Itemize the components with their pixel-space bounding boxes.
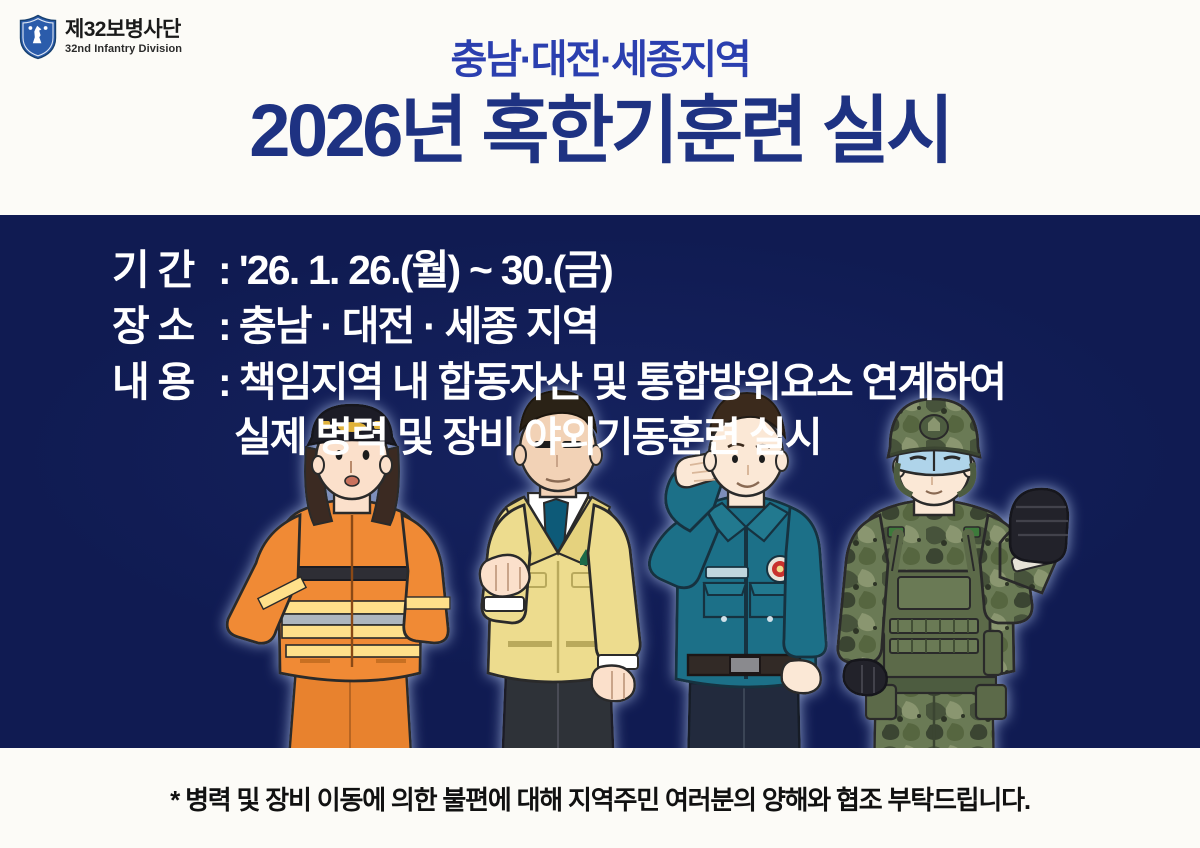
agency-emblem-icon: [580, 549, 604, 565]
info-colon-location: :: [216, 299, 239, 355]
info-label-content: 내 용: [112, 355, 216, 411]
division-name-ko: 제32보병사단: [65, 19, 182, 40]
poster-root: 제32보병사단 32nd Infantry Division 충남·대전·세종지…: [0, 0, 1200, 848]
info-colon-content: :: [216, 355, 239, 411]
info-label-location: 장 소: [112, 299, 216, 355]
info-list: 기 간 : '26. 1. 26.(월) ~ 30.(금) 장 소 : 충남 ·…: [112, 243, 1005, 466]
info-value-content-continued: 실제 병력 및 장비 야외기동훈련 실시: [112, 410, 821, 466]
footer-band: * 병력 및 장비 이동에 의한 불편에 대해 지역주민 여러분의 양해와 협조…: [0, 748, 1200, 848]
poster-subtitle: 충남·대전·세종지역: [0, 40, 1200, 80]
title-block: 충남·대전·세종지역 2026년 혹한기훈련 실시: [0, 40, 1200, 170]
announcement-panel: 기 간 : '26. 1. 26.(월) ~ 30.(금) 장 소 : 충남 ·…: [0, 215, 1200, 748]
info-row-period: 기 간 : '26. 1. 26.(월) ~ 30.(금): [112, 243, 1005, 299]
info-row-content-continued: 실제 병력 및 장비 야외기동훈련 실시: [112, 410, 1005, 466]
info-label-period: 기 간: [112, 243, 216, 299]
poster-title: 2026년 혹한기훈련 실시: [0, 92, 1200, 170]
info-value-content: 책임지역 내 합동자산 및 통합방위요소 연계하여: [239, 355, 1005, 411]
footer-note: * 병력 및 장비 이동에 의한 불편에 대해 지역주민 여러분의 양해와 협조…: [170, 780, 1030, 817]
info-value-location: 충남 · 대전 · 세종 지역: [239, 299, 598, 355]
info-row-location: 장 소 : 충남 · 대전 · 세종 지역: [112, 299, 1005, 355]
info-value-period: '26. 1. 26.(월) ~ 30.(금): [239, 243, 612, 299]
police-badge-icon: [767, 556, 793, 582]
info-colon-period: :: [216, 243, 239, 299]
header-band: 제32보병사단 32nd Infantry Division 충남·대전·세종지…: [0, 0, 1200, 215]
info-row-content: 내 용 : 책임지역 내 합동자산 및 통합방위요소 연계하여: [112, 355, 1005, 411]
